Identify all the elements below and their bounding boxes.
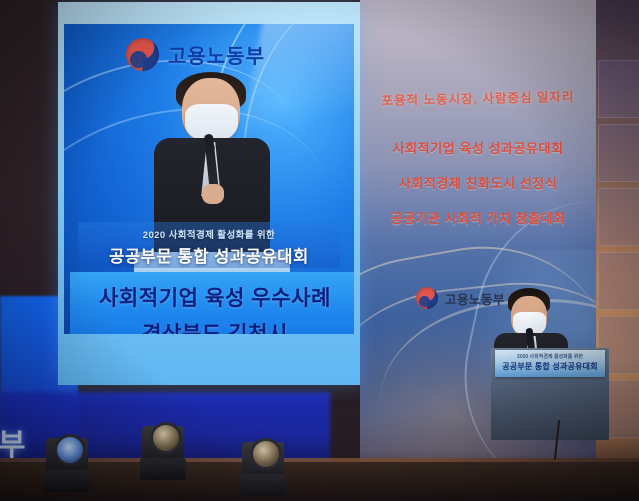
stage-scene: 부 포용적 노동시장, 사람중심 일자리 사회적기업 육성 성과공유대회 사회적… bbox=[0, 0, 639, 501]
screen-title-headline: 공공부문 통합 성과공유대회 bbox=[78, 243, 340, 267]
ministry-logo: 고용노동부 bbox=[416, 287, 505, 309]
wall-tile bbox=[598, 188, 639, 246]
screen-title-band: 2020 사회적경제 활성화를 위한 공공부문 통합 성과공유대회 bbox=[78, 222, 340, 268]
podium-sign: 2020 사회적경제 활성화를 위한 공공부문 통합 성과공유대회 bbox=[495, 350, 605, 377]
banner-line-3: 공공기관 사회적 가치 창출대회 bbox=[360, 208, 596, 227]
screen-main-caption: 사회적기업 육성 우수사례 경상북도 김천시 bbox=[70, 272, 354, 334]
screen-logo-label: 고용노동부 bbox=[168, 40, 265, 69]
screen-caption-line-1: 사회적기업 육성 우수사례 bbox=[70, 272, 354, 312]
light-base bbox=[240, 474, 286, 496]
screen-caption-line-2: 경상북도 김천시 bbox=[70, 318, 354, 334]
banner-script-headline: 포용적 노동시장, 사람중심 일자리 bbox=[360, 86, 596, 110]
light-base bbox=[44, 470, 90, 492]
taegeuk-emblem-icon bbox=[416, 287, 438, 309]
screen-title-kicker: 2020 사회적경제 활성화를 위한 bbox=[78, 222, 340, 241]
wall-tile bbox=[598, 60, 639, 118]
light-base bbox=[140, 458, 186, 480]
stage-floor bbox=[0, 462, 639, 501]
podium-sign-headline: 공공부문 통합 성과공유대회 bbox=[495, 361, 605, 372]
light-lens-icon bbox=[150, 422, 182, 454]
projection-screen-frame: 고용노동부 2020 사회적경제 활성화를 위한 공공부문 통합 성과공유대회 … bbox=[58, 2, 360, 385]
screen-ministry-logo: 고용노동부 bbox=[126, 38, 265, 71]
light-lens-icon bbox=[54, 434, 86, 466]
wall-tile bbox=[598, 252, 639, 310]
stage-light-center bbox=[140, 420, 186, 482]
podium-sign-kicker: 2020 사회적경제 활성화를 위한 bbox=[495, 350, 605, 360]
on-screen-speaker-hand bbox=[202, 184, 224, 204]
banner-line-2: 사회적경제 친화도시 선정식 bbox=[360, 173, 596, 192]
stage-light-left bbox=[44, 432, 90, 494]
light-lens-icon bbox=[250, 438, 282, 470]
banner-event-list: 사회적기업 육성 성과공유대회 사회적경제 친화도시 선정식 공공기관 사회적 … bbox=[360, 138, 596, 243]
wall-tile bbox=[598, 124, 639, 182]
projection-screen: 고용노동부 2020 사회적경제 활성화를 위한 공공부문 통합 성과공유대회 … bbox=[64, 24, 354, 334]
stage-light-right bbox=[240, 436, 286, 498]
banner-line-1: 사회적기업 육성 성과공유대회 bbox=[360, 138, 596, 157]
taegeuk-emblem-icon bbox=[126, 38, 159, 71]
